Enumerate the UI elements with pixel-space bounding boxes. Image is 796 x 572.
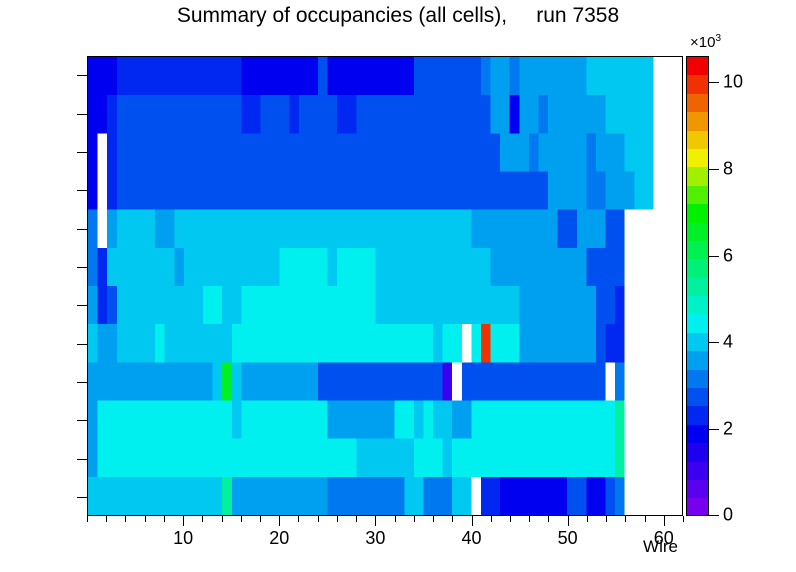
colorbar-band [687,296,708,314]
colorbar: 0246810 [686,56,796,516]
colorbar-band [687,112,708,130]
colorbar-band [687,498,708,516]
x-axis-minor-tick [356,516,357,522]
x-axis-minor-tick [433,516,434,522]
colorbar-band [687,186,708,204]
colorbar-tick [709,342,719,343]
colorbar-band [687,351,708,369]
colorbar-band [687,462,708,480]
colorbar-band [687,204,708,222]
x-axis-minor-tick [548,516,549,522]
x-axis-minor-tick [587,516,588,522]
x-axis-major-tick [664,516,665,526]
x-axis-minor-tick [125,516,126,522]
y-axis-tick [77,382,87,383]
x-axis-minor-tick [337,516,338,522]
colorbar-label-2: 2 [723,419,733,440]
y-axis-tick [77,114,87,115]
colorbar-band [687,259,708,277]
colorbar-label-0: 0 [723,505,733,526]
y-axis-tick [77,75,87,76]
colorbar-band [687,333,708,351]
x-axis-minor-tick [222,516,223,522]
colorbar-tick [709,82,719,83]
x-axis-minor-tick [491,516,492,522]
x-axis-minor-tick [606,516,607,522]
chart-canvas: Summary of occupancies (all cells), run … [0,0,796,572]
x-axis-minor-tick [510,516,511,522]
y-axis-tick [77,229,87,230]
colorbar-label-4: 4 [723,332,733,353]
y-axis-tick [77,344,87,345]
colorbar-band [687,241,708,259]
y-axis-tick [77,267,87,268]
colorbar-band [687,223,708,241]
x-axis-minor-tick [260,516,261,522]
colorbar-exponent-power: 3 [715,33,721,44]
colorbar-tick [709,429,719,430]
colorbar-label-8: 8 [723,158,733,179]
colorbar-band [687,480,708,498]
colorbar-band [687,57,708,75]
x-axis-major-tick [183,516,184,526]
x-axis-minor-tick [452,516,453,522]
y-axis-tick [77,190,87,191]
colorbar-band [687,278,708,296]
y-axis-tick [77,497,87,498]
y-axis: SL1L1SL1L2SL1L3SL1L4SL2L1SL2L2SL2L3SL2L4… [0,0,87,572]
x-axis-minor-tick [298,516,299,522]
x-axis-minor-tick [318,516,319,522]
x-axis-minor-tick [106,516,107,522]
x-axis-major-tick [279,516,280,526]
x-axis-minor-tick [87,516,88,522]
colorbar-band [687,388,708,406]
colorbar-label-10: 10 [723,72,743,93]
heatmap-bitmap [88,57,663,515]
colorbar-band [687,443,708,461]
plot-area [87,56,683,516]
colorbar-tick [709,515,719,516]
colorbar-tick [709,256,719,257]
colorbar-band [687,131,708,149]
colorbar-exponent: ×103 [690,33,721,51]
x-axis-major-tick [375,516,376,526]
y-axis-tick [77,420,87,421]
x-axis-minor-tick [683,516,684,522]
x-axis-minor-tick [145,516,146,522]
x-axis-minor-tick [414,516,415,522]
x-axis-minor-tick [625,516,626,522]
colorbar-gradient [686,56,709,516]
colorbar-band [687,406,708,424]
x-axis-minor-tick [164,516,165,522]
colorbar-band [687,425,708,443]
x-axis-major-tick [472,516,473,526]
colorbar-band [687,370,708,388]
x-axis-title: Wire [0,537,683,557]
heatmap-cells [88,57,663,515]
colorbar-band [687,314,708,332]
colorbar-exponent-base: ×10 [690,34,715,51]
colorbar-band [687,167,708,185]
colorbar-tick [709,169,719,170]
chart-title: Summary of occupancies (all cells), run … [0,4,796,28]
x-axis-minor-tick [241,516,242,522]
x-axis-minor-tick [529,516,530,522]
x-axis-minor-tick [645,516,646,522]
y-axis-tick [77,459,87,460]
colorbar-band [687,75,708,93]
x-axis-minor-tick [202,516,203,522]
colorbar-label-6: 6 [723,245,733,266]
x-axis-major-tick [568,516,569,526]
x-axis-minor-tick [395,516,396,522]
colorbar-band [687,94,708,112]
y-axis-tick [77,305,87,306]
colorbar-band [687,149,708,167]
y-axis-tick [77,152,87,153]
